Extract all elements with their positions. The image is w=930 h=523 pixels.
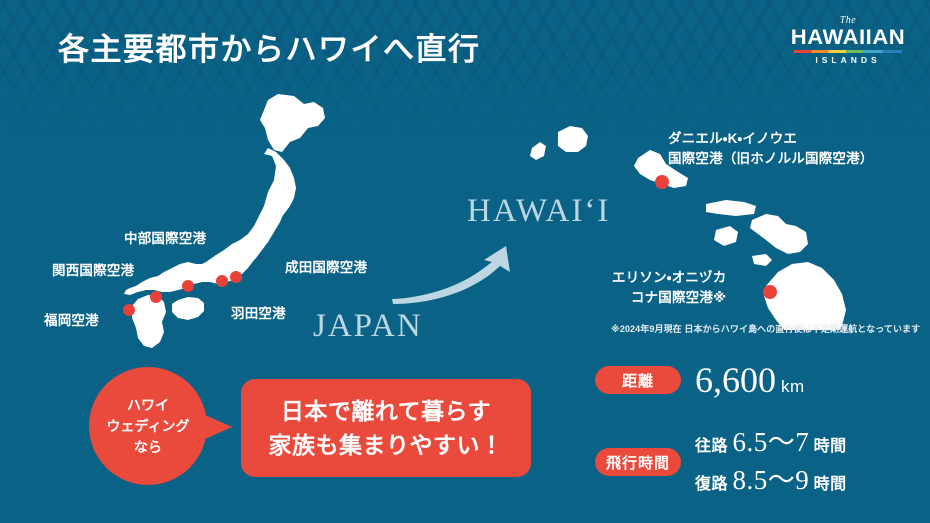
family-message-line2: 家族も集まりやすい！ bbox=[269, 428, 504, 463]
family-message-bubble: 日本で離れて暮らす 家族も集まりやすい！ bbox=[241, 379, 531, 477]
flight-time-row: 飛行時間 往路 6.5〜7 時間 復路 8.5〜9 時間 bbox=[595, 424, 847, 501]
airport-dot-haneda bbox=[216, 275, 228, 287]
logo-the-text: The bbox=[788, 16, 908, 26]
label-honolulu-line1: ダニエル・K・イノウエ bbox=[668, 129, 874, 149]
label-kona-airport: エリソン・オニヅカ コナ国際空港※ bbox=[612, 268, 726, 307]
kona-footnote: ※2024年9月現在 日本からハワイ島への直行便は不定期運航となっています bbox=[611, 322, 920, 335]
wedding-callout-bubble: ハワイ ウェディング なら bbox=[89, 367, 207, 485]
wedding-callout-line1: ハワイ bbox=[127, 395, 169, 416]
distance-number: 6,600 bbox=[695, 360, 776, 400]
airport-dot-fukuoka bbox=[123, 304, 135, 316]
airport-dot-chubu bbox=[182, 280, 194, 292]
airport-dot-narita bbox=[230, 271, 242, 283]
flight-time-values: 往路 6.5〜7 時間 復路 8.5〜9 時間 bbox=[695, 424, 847, 501]
hawaiian-islands-logo: The HAWAIIAN ISLANDS bbox=[788, 16, 908, 65]
airport-dot-honolulu bbox=[655, 175, 669, 189]
outbound-time-line: 往路 6.5〜7 時間 bbox=[695, 424, 847, 460]
label-honolulu-line2: 国際空港（旧ホノルル国際空港） bbox=[668, 149, 874, 169]
logo-hawaiian-text: HAWAIIAN bbox=[785, 27, 911, 48]
infographic-root: 各主要都市からハワイへ直行 The HAWAIIAN ISLANDS bbox=[0, 0, 930, 523]
flight-route-arrow-icon bbox=[388, 232, 548, 312]
label-kona-line2: コナ国際空港※ bbox=[612, 288, 726, 308]
label-fukuoka-airport: 福岡空港 bbox=[44, 309, 99, 329]
label-kona-line1: エリソン・オニヅカ bbox=[612, 268, 726, 288]
outbound-unit: 時間 bbox=[814, 438, 847, 455]
flight-stats-panel: 距離 6,600km 飛行時間 往路 6.5〜7 時間 復路 8.5〜9 時間 bbox=[595, 362, 847, 501]
airport-dots-japan bbox=[123, 271, 242, 316]
flight-time-badge: 飛行時間 bbox=[595, 448, 681, 476]
wedding-callout-line2: ウェディング bbox=[106, 416, 189, 437]
label-haneda-airport: 羽田空港 bbox=[231, 302, 286, 322]
label-kansai-airport: 関西国際空港 bbox=[52, 259, 134, 279]
japan-wordmark: JAPAN bbox=[313, 308, 423, 345]
inbound-unit: 時間 bbox=[814, 476, 847, 493]
logo-islands-text: ISLANDS bbox=[788, 56, 908, 65]
airport-dot-kona bbox=[763, 285, 777, 299]
speech-bubble-tail-icon bbox=[196, 411, 232, 443]
family-message-line1: 日本で離れて暮らす bbox=[281, 394, 491, 429]
airport-dot-kansai bbox=[150, 291, 162, 303]
wedding-callout-line3: なら bbox=[134, 437, 162, 458]
outbound-direction: 往路 bbox=[695, 438, 728, 455]
inbound-direction: 復路 bbox=[695, 476, 728, 493]
distance-value: 6,600km bbox=[695, 362, 805, 398]
page-title: 各主要都市からハワイへ直行 bbox=[58, 24, 481, 69]
hawaii-wordmark: HAWAI‘I bbox=[467, 193, 610, 230]
label-narita-airport: 成田国際空港 bbox=[285, 256, 367, 276]
inbound-time-line: 復路 8.5〜9 時間 bbox=[695, 462, 847, 498]
distance-row: 距離 6,600km bbox=[595, 362, 847, 398]
distance-unit: km bbox=[781, 377, 805, 396]
outbound-value: 6.5〜7 bbox=[732, 427, 809, 457]
distance-badge: 距離 bbox=[595, 366, 681, 394]
inbound-value: 8.5〜9 bbox=[732, 465, 809, 495]
label-honolulu-airport: ダニエル・K・イノウエ 国際空港（旧ホノルル国際空港） bbox=[668, 129, 874, 168]
label-chubu-airport: 中部国際空港 bbox=[124, 227, 206, 247]
rainbow-bar-icon bbox=[794, 50, 902, 53]
